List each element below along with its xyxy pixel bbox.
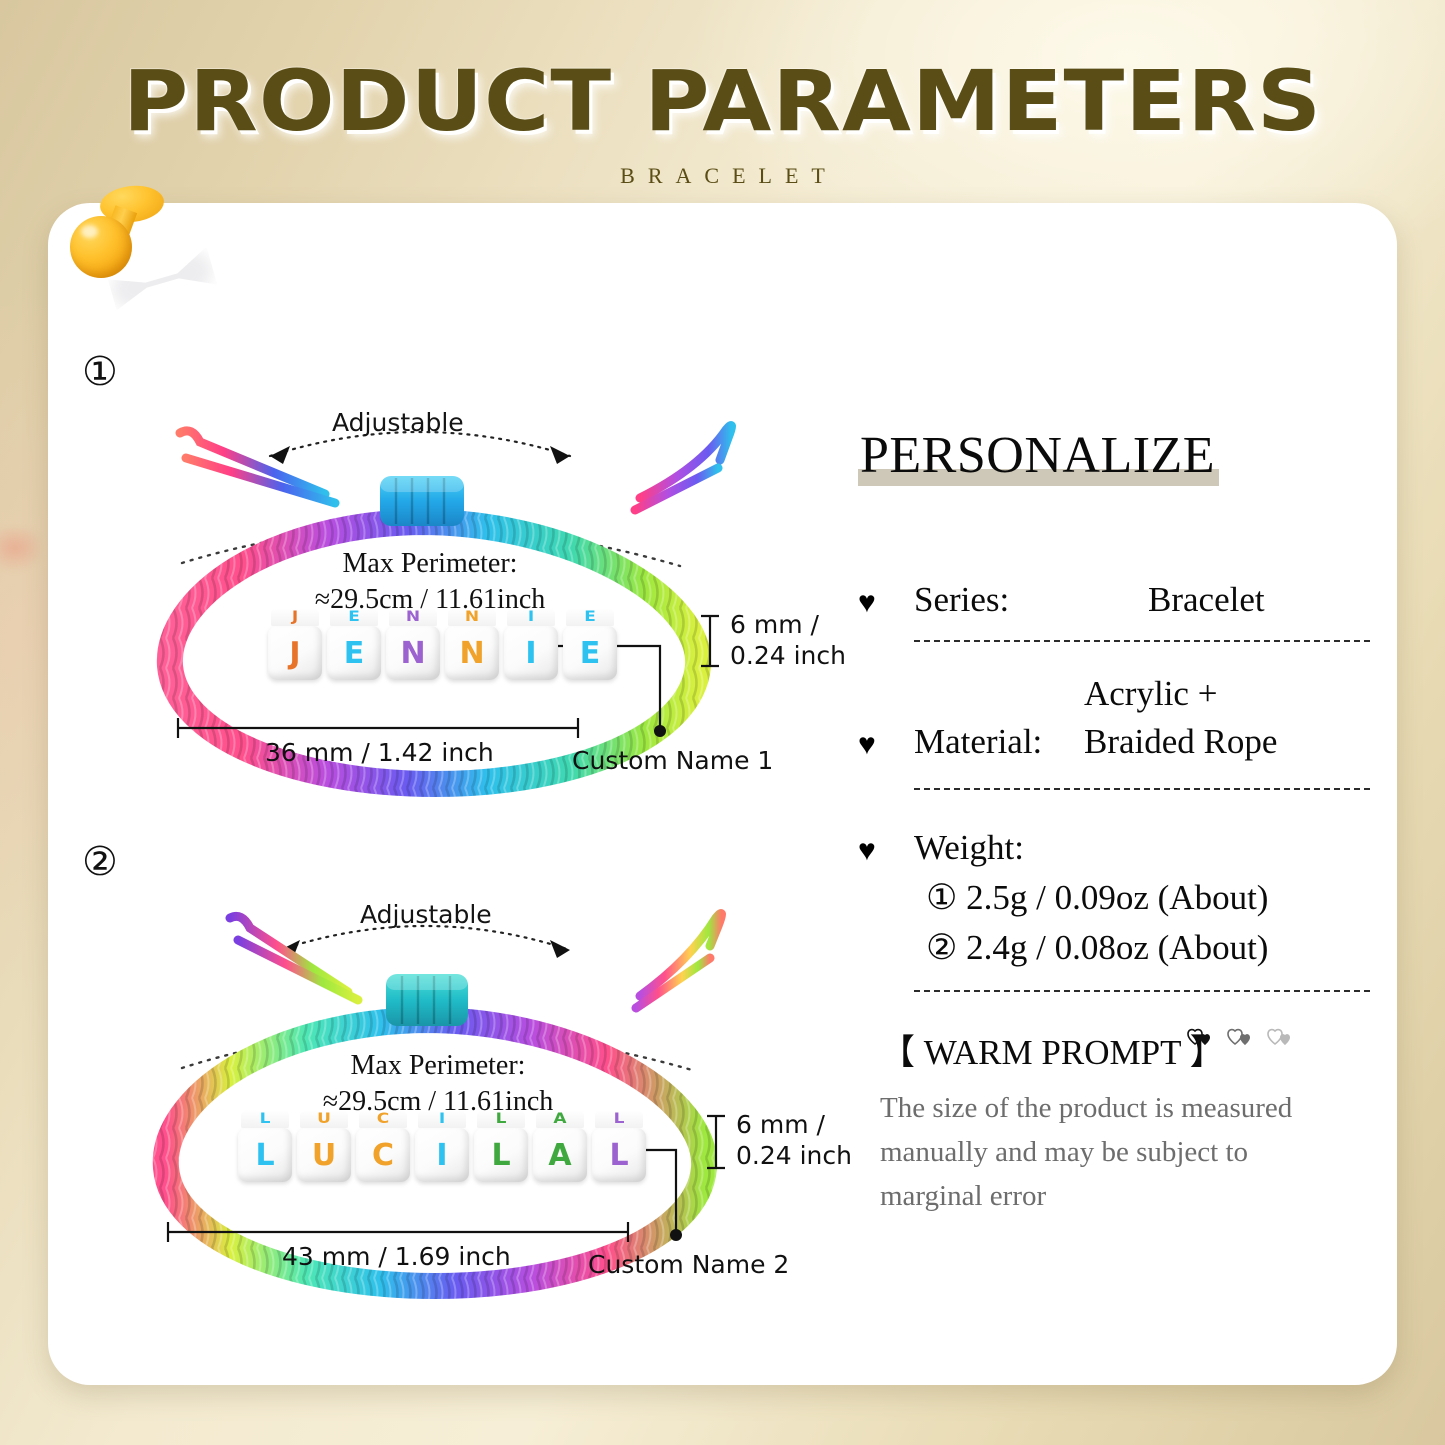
height-label-1-line1: 6 mm / [730, 610, 846, 641]
cord-left-strand [238, 940, 358, 1000]
letter-bead: UU [297, 1128, 351, 1182]
letter-bead: II [415, 1128, 469, 1182]
warm-prompt-title: 【 WARM PROMPT 】 [880, 1024, 1225, 1075]
adjustable-knot-1 [380, 476, 464, 526]
material-key: Material: [914, 722, 1042, 762]
bracelet-figure-2: LLUUCCIILLAALL Adjustable Max Perimeter:… [120, 888, 840, 1298]
bead-letter: N [445, 626, 499, 680]
bracelet-figure-1: JJEENNNNIIEE Adjustable Max Perimeter: ≈… [120, 398, 840, 798]
heart-icon: ♥ [858, 588, 876, 618]
bead-letter: C [356, 1128, 410, 1182]
pushpin-ball [70, 216, 132, 278]
adjustable-arrow-left [270, 446, 290, 464]
bead-row-2: LLUUCCIILLAALL [238, 1128, 651, 1182]
callout-label-1: Custom Name 1 [572, 746, 773, 775]
adjustable-arc [280, 926, 570, 950]
personalize-panel: PERSONALIZE ♥ Series: Bracelet ♥ Materia… [858, 430, 1370, 1208]
callout-label-2: Custom Name 2 [588, 1250, 789, 1279]
letter-bead: EE [327, 626, 381, 680]
height-label-1: 6 mm / 0.24 inch [730, 610, 846, 671]
weight-key: Weight: [914, 828, 1024, 868]
warm-prompt-body: The size of the product is measured manu… [880, 1086, 1350, 1218]
letter-bead: JJ [268, 626, 322, 680]
letter-bead: CC [356, 1128, 410, 1182]
series-key: Series: [914, 580, 1009, 620]
material-value-line1: Acrylic + [1084, 674, 1217, 714]
divider [914, 640, 1370, 642]
letter-bead: LL [238, 1128, 292, 1182]
heart-icon: ♥ [858, 730, 876, 760]
letter-bead: NN [386, 626, 440, 680]
infographic-canvas: PRODUCT PARAMETERS BRACELET ① ② [0, 0, 1445, 1445]
bead-letter: L [592, 1128, 646, 1182]
pushpin-icon [62, 188, 192, 318]
bead-letter: E [327, 626, 381, 680]
bead-letter: J [268, 626, 322, 680]
letter-bead: NN [445, 626, 499, 680]
height-label-2-line2: 0.24 inch [736, 1141, 852, 1172]
divider [914, 990, 1370, 992]
letter-bead: LL [592, 1128, 646, 1182]
bead-letter: L [238, 1128, 292, 1182]
perimeter-line-1: Max Perimeter: [220, 546, 640, 582]
spec-row-material: ♥ Material: Acrylic + Braided Rope [858, 668, 1370, 818]
perimeter-label-1: Max Perimeter: ≈29.5cm / 11.61inch [220, 546, 640, 618]
bead-letter: I [504, 626, 558, 680]
heart-icon: ♥ [858, 836, 876, 866]
section-marker-2: ② [82, 842, 118, 882]
height-label-2: 6 mm / 0.24 inch [736, 1110, 852, 1171]
letter-bead: AA [533, 1128, 587, 1182]
perimeter-label-2: Max Perimeter: ≈29.5cm / 11.61inch [228, 1048, 648, 1120]
letter-bead: II [504, 626, 558, 680]
spec-row-weight: ♥ Weight: ① 2.5g / 0.09oz (About) ② 2.4g… [858, 818, 1370, 1008]
weight-item-2: ② 2.4g / 0.08oz (About) [926, 928, 1268, 968]
perimeter-line-2: ≈29.5cm / 11.61inch [228, 1084, 648, 1120]
section-marker-1: ① [82, 352, 118, 392]
bead-letter: L [474, 1128, 528, 1182]
height-label-1-line2: 0.24 inch [730, 641, 846, 672]
bead-letter: N [386, 626, 440, 680]
adjustable-arrow-right [550, 446, 570, 464]
width-label-1: 36 mm / 1.42 inch [265, 738, 494, 767]
width-label-2: 43 mm / 1.69 inch [282, 1242, 511, 1271]
height-label-2-line1: 6 mm / [736, 1110, 852, 1141]
panel-title: PERSONALIZE [858, 430, 1219, 488]
letter-bead: LL [474, 1128, 528, 1182]
adjustable-knot-2 [386, 974, 468, 1026]
bead-letter: E [563, 626, 617, 680]
petal-decoration [0, 528, 40, 572]
double-heart-icon [1268, 1028, 1294, 1050]
perimeter-line-2: ≈29.5cm / 11.61inch [220, 582, 640, 618]
divider [914, 788, 1370, 790]
material-value-line2: Braided Rope [1084, 722, 1277, 762]
page-title: PRODUCT PARAMETERS [0, 52, 1445, 150]
letter-bead: EE [563, 626, 617, 680]
warm-prompt-block: 【 WARM PROMPT 】 The size of the product … [858, 1008, 1370, 1208]
weight-item-1: ① 2.5g / 0.09oz (About) [926, 878, 1268, 918]
bead-row-1: JJEENNNNIIEE [268, 626, 622, 680]
double-heart-icon [1188, 1028, 1214, 1050]
spec-row-series: ♥ Series: Bracelet [858, 576, 1370, 668]
page-subtitle: BRACELET [0, 163, 1445, 189]
double-heart-icon-group [1188, 1028, 1294, 1050]
bead-letter: U [297, 1128, 351, 1182]
double-heart-icon [1228, 1028, 1254, 1050]
series-value: Bracelet [1148, 580, 1265, 620]
adjustable-label-2: Adjustable [360, 900, 492, 929]
bead-letter: A [533, 1128, 587, 1182]
cord-left-loop [230, 916, 348, 992]
adjustable-label-1: Adjustable [332, 408, 464, 437]
adjustable-arrow-right [550, 940, 570, 958]
perimeter-line-1: Max Perimeter: [228, 1048, 648, 1084]
panel-title-text: PERSONALIZE [860, 427, 1215, 484]
bead-letter: I [415, 1128, 469, 1182]
